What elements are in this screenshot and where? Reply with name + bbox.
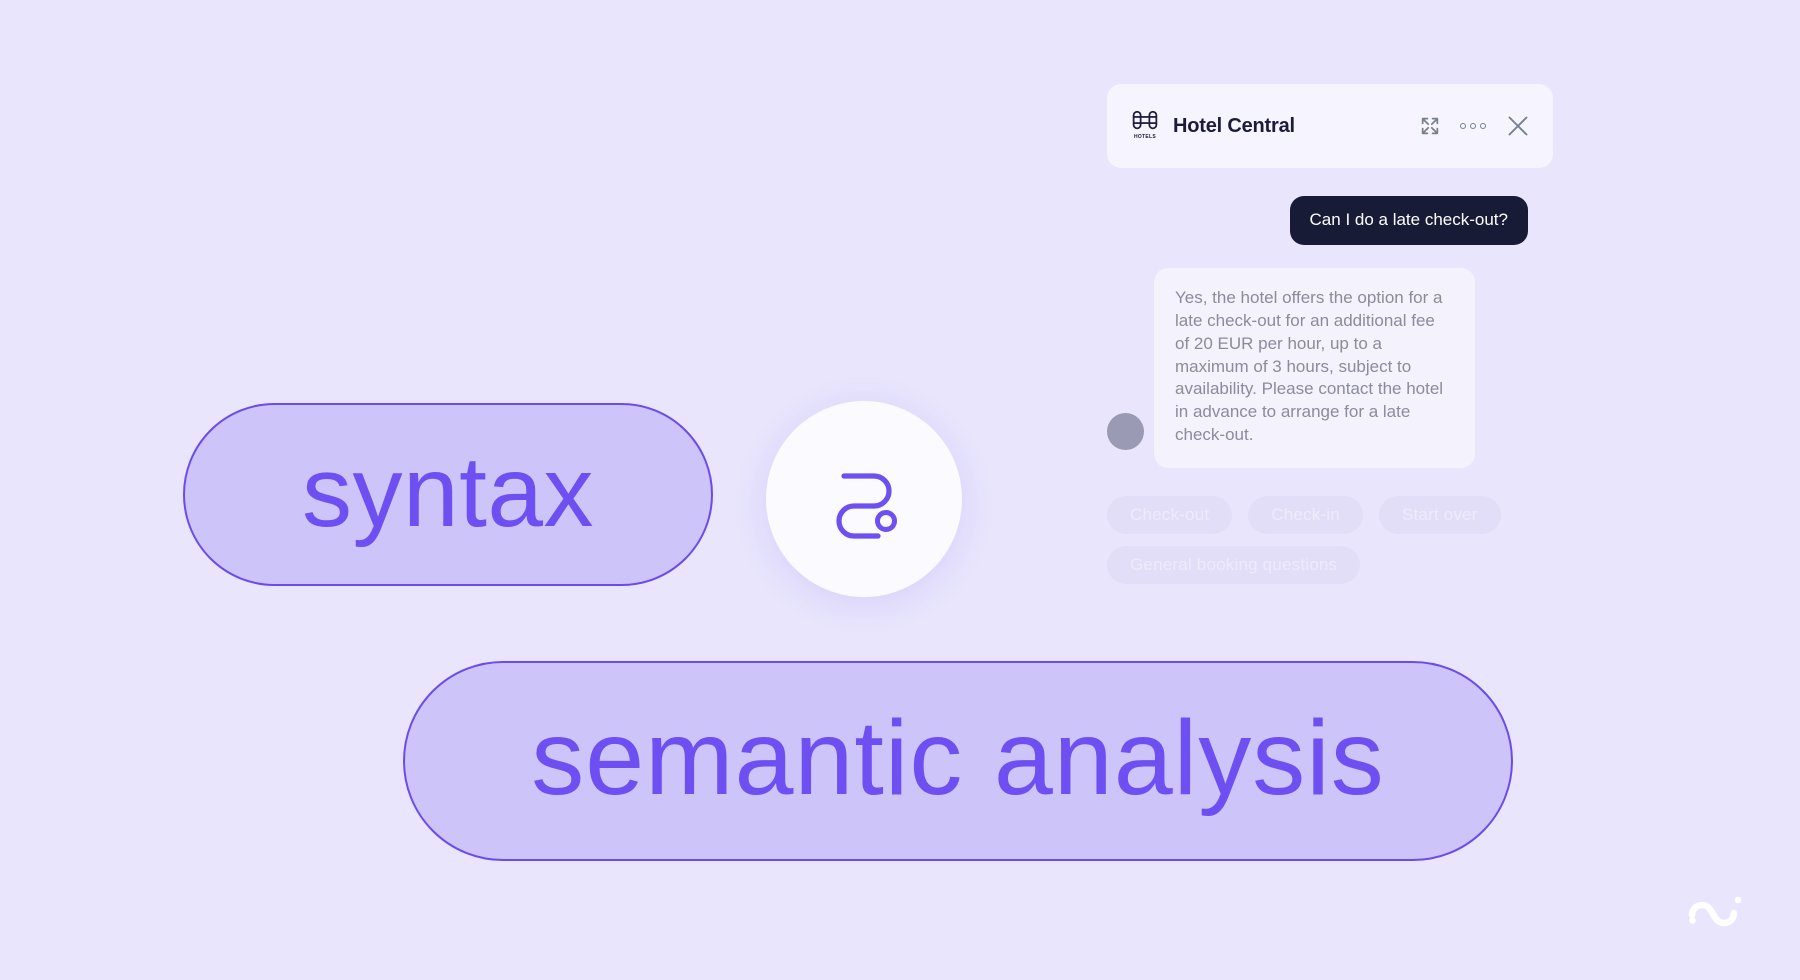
more-dot — [1480, 123, 1486, 129]
message-spacer — [1107, 245, 1553, 268]
chat-header-actions — [1419, 113, 1531, 139]
hotel-h-logo-icon: HOTELS — [1130, 106, 1160, 146]
message-row-bot: Yes, the hotel offers the option for a l… — [1107, 268, 1553, 467]
expand-icon[interactable] — [1419, 115, 1441, 137]
chat-header: HOTELS Hotel Central — [1107, 84, 1553, 168]
canvas: syntax semantic analysis HOTELS — [0, 0, 1800, 980]
message-row-user: Can I do a late check-out? — [1107, 196, 1553, 245]
hotel-logo-wordmark: HOTELS — [1134, 135, 1156, 140]
keyword-pill-semantic-analysis-label: semantic analysis — [531, 705, 1385, 817]
chat-message-list: Can I do a late check-out? Yes, the hote… — [1107, 196, 1553, 468]
quick-reply-check-in[interactable]: Check-in — [1248, 496, 1363, 534]
winding-path-node-icon — [816, 451, 912, 547]
quick-reply-general-booking-questions[interactable]: General booking questions — [1107, 546, 1360, 584]
keyword-pill-syntax-label: syntax — [302, 442, 594, 548]
center-badge — [766, 401, 962, 597]
more-dot — [1470, 123, 1476, 129]
infinity-wave-logo-icon — [1686, 890, 1752, 930]
quick-reply-check-out[interactable]: Check-out — [1107, 496, 1232, 534]
chat-widget: HOTELS Hotel Central — [1107, 84, 1553, 584]
more-options-icon[interactable] — [1460, 123, 1486, 129]
more-dot — [1460, 123, 1466, 129]
keyword-pill-syntax: syntax — [183, 403, 713, 586]
close-icon[interactable] — [1505, 113, 1531, 139]
chat-title: Hotel Central — [1173, 115, 1295, 138]
bot-message-bubble: Yes, the hotel offers the option for a l… — [1154, 268, 1475, 467]
keyword-pill-semantic-analysis: semantic analysis — [403, 661, 1513, 861]
user-message-bubble: Can I do a late check-out? — [1290, 196, 1528, 245]
quick-reply-start-over[interactable]: Start over — [1379, 496, 1501, 534]
quick-reply-list: Check-out Check-in Start over General bo… — [1107, 496, 1553, 584]
bot-avatar — [1107, 413, 1144, 450]
